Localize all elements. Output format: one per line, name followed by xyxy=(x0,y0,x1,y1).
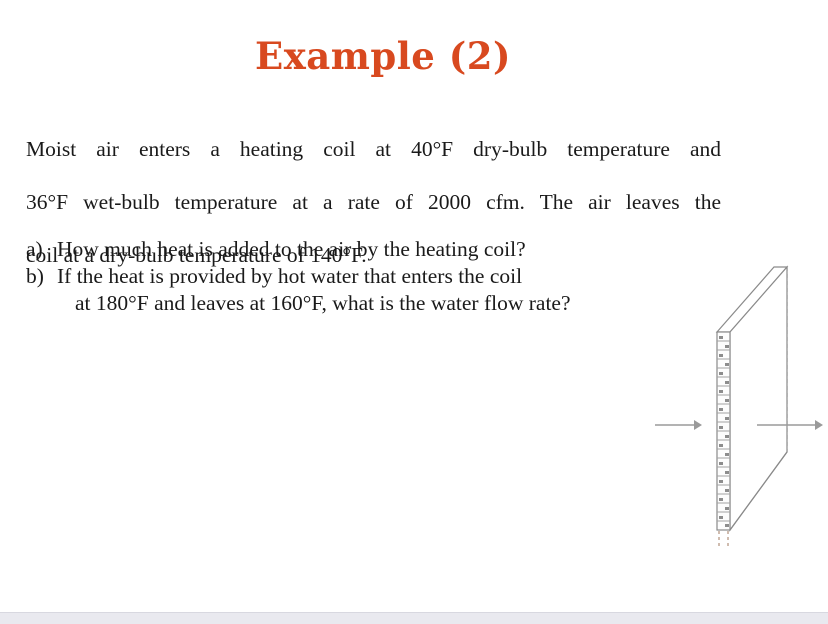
question-list: a) How much heat is added to the air by … xyxy=(26,236,706,317)
intro-line-1: Moist air enters a heating coil at 40°F … xyxy=(26,136,721,189)
coil-fin-texture xyxy=(717,341,730,521)
intro-line-2: 36°F wet-bulb temperature at a rate of 2… xyxy=(26,189,721,242)
list-item-b: b) If the heat is provided by hot water … xyxy=(26,263,706,317)
question-b-text-line2: at 180°F and leaves at 160°F, what is th… xyxy=(57,290,706,317)
slide-canvas: Example (2) Moist air enters a heating c… xyxy=(0,0,828,624)
question-a-text: How much heat is added to the air by the… xyxy=(57,237,526,261)
page-title: Example (2) xyxy=(0,34,766,78)
air-inlet-arrow xyxy=(655,420,702,430)
bottom-status-bar xyxy=(0,612,828,624)
question-b-text-line1: If the heat is provided by hot water tha… xyxy=(57,264,522,288)
list-item-a: a) How much heat is added to the air by … xyxy=(26,236,706,263)
heating-coil-diagram xyxy=(640,250,828,555)
list-marker-a: a) xyxy=(26,236,57,263)
list-marker-b: b) xyxy=(26,263,57,290)
